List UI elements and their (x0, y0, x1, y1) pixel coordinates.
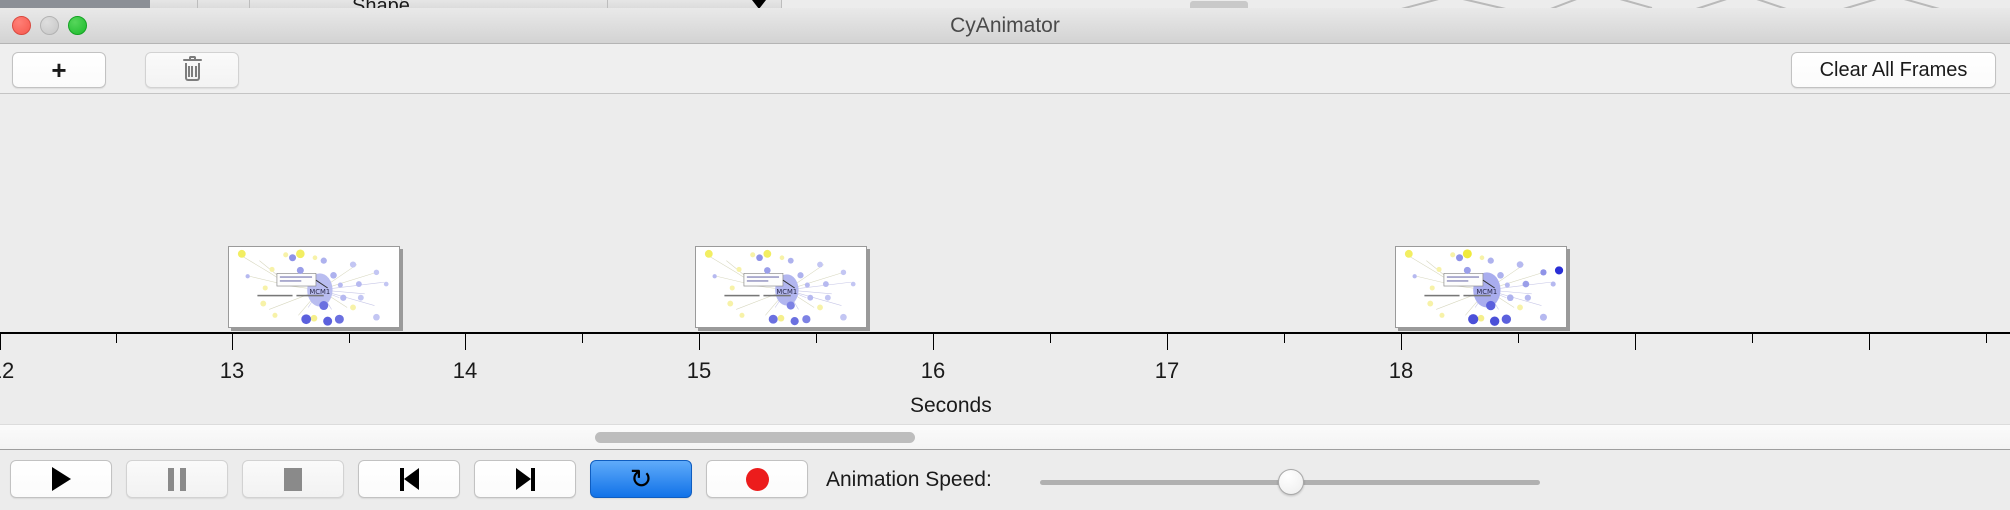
axis-tick-label: 14 (453, 358, 477, 384)
loop-icon: ↻ (630, 466, 653, 493)
record-icon (746, 468, 769, 491)
axis-tick-major (933, 334, 934, 350)
clear-all-frames-button[interactable]: Clear All Frames (1791, 52, 1996, 88)
clear-all-frames-label: Clear All Frames (1820, 59, 1968, 82)
axis-tick-minor (1518, 334, 1519, 343)
timeline-track[interactable]: MCM1 (0, 94, 2010, 334)
cyanimator-window: CyAnimator + Clear All Frames (0, 8, 2010, 510)
play-icon (52, 467, 71, 491)
axis-tick-major (1869, 334, 1870, 350)
axis-tick-major (0, 334, 1, 350)
timeline-tick-labels: 12 13 14 15 16 17 18 (0, 358, 2010, 394)
frame-thumbnail[interactable]: MCM1 (228, 246, 400, 328)
window-titlebar[interactable]: CyAnimator (0, 8, 2010, 44)
skip-forward-icon (516, 468, 535, 491)
axis-tick-major (699, 334, 700, 350)
add-frame-button[interactable]: + (12, 52, 106, 88)
axis-tick-major (465, 334, 466, 350)
axis-tick-label: 13 (220, 358, 244, 384)
frame-thumbnail[interactable]: MCM1 (1395, 246, 1567, 328)
stop-icon (284, 468, 302, 491)
axis-tick-minor (1752, 334, 1753, 343)
timeline-horizontal-scrollbar[interactable] (0, 424, 2010, 450)
axis-tick-label: 12 (0, 358, 14, 384)
axis-tick-minor (1986, 334, 1987, 343)
scrollbar-thumb[interactable] (595, 432, 915, 443)
slider-thumb[interactable] (1278, 469, 1304, 495)
axis-tick-minor (582, 334, 583, 343)
stop-button[interactable] (242, 460, 344, 498)
record-button[interactable] (706, 460, 808, 498)
network-graph-thumbnail: MCM1 (229, 247, 399, 327)
frame-toolbar: + Clear All Frames (0, 44, 2010, 94)
frame-thumbnail[interactable]: MCM1 (695, 246, 867, 328)
axis-tick-minor (1284, 334, 1285, 343)
previous-frame-button[interactable] (358, 460, 460, 498)
svg-text:MCM1: MCM1 (1476, 288, 1497, 296)
skip-back-icon (400, 468, 419, 491)
trash-icon (183, 59, 202, 82)
axis-tick-minor (1050, 334, 1051, 343)
axis-tick-minor (116, 334, 117, 343)
animation-speed-label: Animation Speed: (826, 468, 992, 492)
axis-tick-label: 15 (687, 358, 711, 384)
axis-tick-major (232, 334, 233, 350)
delete-frame-button[interactable] (145, 52, 239, 88)
loop-button[interactable]: ↻ (590, 460, 692, 498)
window-title: CyAnimator (0, 14, 2010, 38)
axis-tick-major (1401, 334, 1402, 350)
axis-tick-major (1635, 334, 1636, 350)
svg-text:MCM1: MCM1 (776, 288, 797, 296)
timeline-axis-title-row: Seconds (0, 394, 2010, 424)
network-graph-thumbnail: MCM1 (1396, 247, 1566, 327)
axis-tick-minor (349, 334, 350, 343)
playback-control-bar: ↻ Animation Speed: (0, 450, 2010, 510)
play-button[interactable] (10, 460, 112, 498)
axis-tick-label: 16 (921, 358, 945, 384)
axis-tick-major (1167, 334, 1168, 350)
axis-tick-minor (816, 334, 817, 343)
pause-button[interactable] (126, 460, 228, 498)
plus-icon: + (51, 57, 66, 83)
next-frame-button[interactable] (474, 460, 576, 498)
svg-text:MCM1: MCM1 (309, 288, 330, 296)
axis-tick-label: 17 (1155, 358, 1179, 384)
animation-speed-slider[interactable] (1040, 480, 1540, 485)
pause-icon (168, 468, 186, 491)
timeline-ticks (0, 334, 2010, 358)
axis-title-label: Seconds (910, 394, 992, 418)
axis-tick-label: 18 (1389, 358, 1413, 384)
network-graph-thumbnail: MCM1 (696, 247, 866, 327)
